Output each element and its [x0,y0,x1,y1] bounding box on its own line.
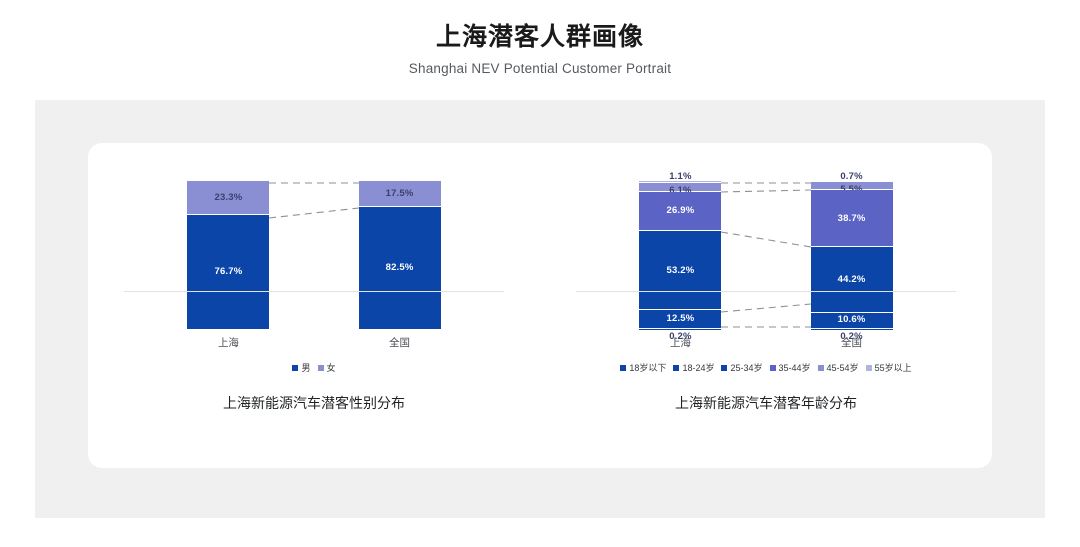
bar-segment-35-44[interactable]: 26.9% [639,192,721,232]
legend-label: 18-24岁 [682,361,714,374]
page-header: 上海潜客人群画像 Shanghai NEV Potential Customer… [0,0,1080,76]
segment-label: 38.7% [838,214,866,224]
legend-label: 18岁以下 [629,361,666,374]
legend-label: 55岁以上 [875,361,912,374]
tick-label-national: 全国 [841,335,862,350]
age-bar-shanghai[interactable]: 1.1% 6.1% 26.9% 53.2% 12.5% [639,181,721,329]
bar-segment-25-34[interactable]: 53.2% [639,231,721,310]
bar-segment-female[interactable]: 17.5% [359,181,441,207]
bar-segment-25-34[interactable]: 44.2% [811,247,893,312]
segment-label: 1.1% [669,172,691,182]
page-title: 上海潜客人群画像 [0,22,1080,52]
gender-plot-area: 23.3% 76.7% 17.5% 82.5% [88,181,540,329]
age-legend: 18岁以下 18-24岁 25-34岁 35-44岁 [540,361,992,374]
gender-bar-shanghai[interactable]: 23.3% 76.7% [187,181,269,329]
legend-label: 女 [327,361,336,374]
legend-label: 35-44岁 [779,361,811,374]
tick-label-shanghai: 上海 [670,335,691,350]
age-chart: 1.1% 6.1% 26.9% 53.2% 12.5% [540,143,992,468]
segment-label: 76.7% [214,267,242,277]
segment-label: 44.2% [838,275,866,285]
legend-item-female[interactable]: 女 [318,361,336,374]
legend-item-under-18[interactable]: 18岁以下 [620,361,666,374]
bar-segment-35-44[interactable]: 38.7% [811,190,893,247]
legend-item-25-34[interactable]: 25-34岁 [721,361,762,374]
segment-label: 12.5% [666,314,694,324]
segment-label: 0.7% [840,172,862,182]
gender-chart: 23.3% 76.7% 17.5% 82.5% [88,143,540,468]
bar-segment-male[interactable]: 82.5% [359,207,441,329]
segment-label: 26.9% [666,206,694,216]
legend-label: 45-54岁 [827,361,859,374]
gender-axis-line [124,291,504,292]
tick-label-shanghai: 上海 [218,335,239,350]
segment-label: 17.5% [386,189,414,199]
bar-segment-45-54[interactable]: 6.1% [639,183,721,192]
gender-tick-labels: 上海 全国 [88,335,540,351]
legend-swatch-icon [770,365,776,371]
age-plot-area: 1.1% 6.1% 26.9% 53.2% 12.5% [540,181,992,329]
legend-item-18-24[interactable]: 18-24岁 [673,361,714,374]
legend-label: 25-34岁 [730,361,762,374]
legend-swatch-icon [292,365,298,371]
bar-segment-female[interactable]: 23.3% [187,181,269,215]
legend-swatch-icon [721,365,727,371]
legend-item-male[interactable]: 男 [292,361,310,374]
bar-segment-male[interactable]: 76.7% [187,215,269,329]
bar-segment-18-24[interactable]: 12.5% [639,310,721,329]
age-tick-labels: 上海 全国 [540,335,992,351]
legend-swatch-icon [620,365,626,371]
gender-legend: 男 女 [88,361,540,374]
age-chart-caption: 上海新能源汽车潜客年龄分布 [540,393,992,413]
bar-segment-45-54[interactable]: 5.5% [811,182,893,190]
legend-item-45-54[interactable]: 45-54岁 [818,361,859,374]
content-panel: 23.3% 76.7% 17.5% 82.5% [35,100,1045,518]
legend-swatch-icon [318,365,324,371]
gender-bar-national[interactable]: 17.5% 82.5% [359,181,441,329]
legend-swatch-icon [818,365,824,371]
charts-card: 23.3% 76.7% 17.5% 82.5% [88,143,992,468]
legend-item-55-plus[interactable]: 55岁以上 [866,361,912,374]
segment-label: 82.5% [386,263,414,273]
age-axis-line [576,291,956,292]
segment-label: 10.6% [838,315,866,325]
legend-swatch-icon [866,365,872,371]
segment-label: 23.3% [214,193,242,203]
age-bar-national[interactable]: 0.7% 5.5% 38.7% 44.2% 10.6% [811,181,893,329]
tick-label-national: 全国 [389,335,410,350]
legend-swatch-icon [673,365,679,371]
gender-chart-caption: 上海新能源汽车潜客性别分布 [88,393,540,413]
charts-row: 23.3% 76.7% 17.5% 82.5% [88,143,992,468]
legend-label: 男 [301,361,310,374]
bar-segment-18-24[interactable]: 10.6% [811,313,893,329]
page-subtitle: Shanghai NEV Potential Customer Portrait [0,61,1080,76]
legend-item-35-44[interactable]: 35-44岁 [770,361,811,374]
segment-label: 53.2% [666,266,694,276]
